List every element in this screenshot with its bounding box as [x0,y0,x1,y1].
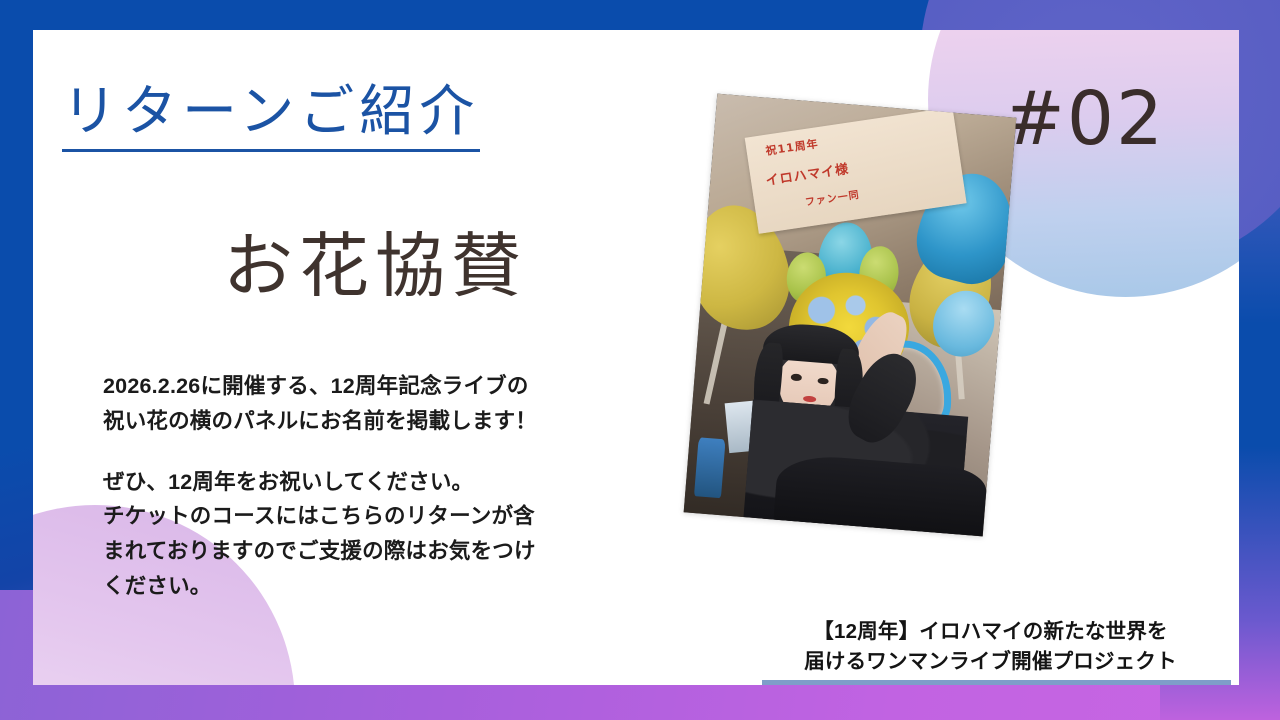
subject-title: お花協賛 [223,233,527,303]
celebration-photo: 祝11周年 イロハマイ様 ファン一同 [684,94,1017,537]
body-line-1: 2026.2.26に開催する、12周年記念ライブの [103,369,663,404]
photo-content: 祝11周年 イロハマイ様 ファン一同 [684,94,1017,537]
sign-line-1: 祝11周年 [765,135,820,159]
body-text-block: 2026.2.26に開催する、12周年記念ライブの 祝い花の横のパネルにお名前を… [103,369,663,604]
caption-line-2: 届けるワンマンライブ開催プロジェクト [753,647,1228,677]
body-line-2: 祝い花の横のパネルにお名前を掲載します！ [103,404,663,439]
sign-line-3: ファン一同 [804,185,861,208]
section-heading-underline [62,149,480,152]
section-heading-group: リターンご紹介 [62,78,480,152]
section-heading: リターンご紹介 [62,78,480,147]
body-line-5: まれておりますのでご支援の際はお気をつけ [103,534,663,569]
photo-bottle [694,438,726,499]
sign-line-2: イロハマイ様 [764,158,850,189]
caption-line-1: 【12周年】イロハマイの新たな世界を [753,617,1228,647]
body-line-4: チケットのコースにはこちらのリターンが含 [103,499,663,534]
photo-performer-eye-left [791,373,802,381]
top-blue-band [0,0,1060,31]
body-line-3: ぜひ、12周年をお祝いしてください。 [103,465,663,500]
caption-underline-bar [762,680,1231,685]
paragraph-spacer [103,439,663,465]
body-line-6: ください。 [103,569,663,604]
content-card: #02 リターンご紹介 お花協賛 2026.2.26に開催する、12周年記念ライ… [33,30,1239,685]
slide-canvas: #02 リターンご紹介 お花協賛 2026.2.26に開催する、12周年記念ライ… [0,0,1280,720]
project-caption: 【12周年】イロハマイの新たな世界を 届けるワンマンライブ開催プロジェクト [753,617,1228,676]
